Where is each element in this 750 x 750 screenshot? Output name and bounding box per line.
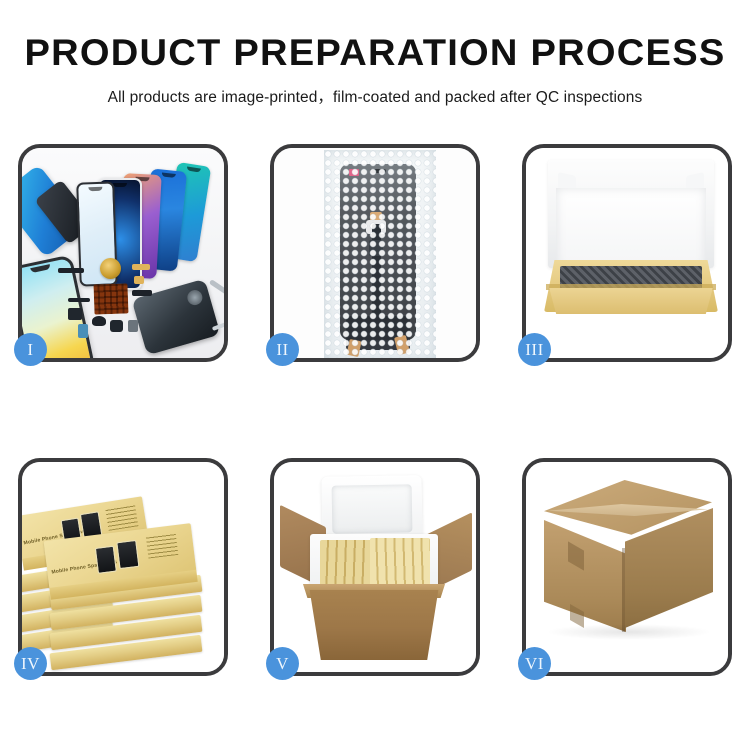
- flex-cable-part: [132, 264, 150, 270]
- process-step-6[interactable]: VI: [522, 458, 732, 676]
- small-component-part: [110, 320, 123, 332]
- step-1-image: [22, 148, 224, 358]
- flex-cable-part: [58, 268, 84, 273]
- step-badge-6: VI: [518, 647, 551, 680]
- foam-lid-open: [321, 475, 422, 543]
- foam-sheet: [556, 188, 706, 270]
- step-6-image: [526, 462, 728, 672]
- step-2-image: [274, 148, 476, 358]
- bubble-wrap-bag: [324, 150, 436, 358]
- step-5-image: [274, 462, 476, 672]
- process-step-grid: I: [18, 144, 732, 676]
- step-badge-3: III: [518, 333, 551, 366]
- small-component-part: [128, 320, 138, 332]
- process-step-5[interactable]: V: [270, 458, 480, 676]
- small-component-part: [92, 316, 106, 326]
- small-component-part: [78, 324, 88, 338]
- process-step-1[interactable]: I: [18, 144, 228, 362]
- flex-cable-part: [68, 308, 82, 320]
- yellow-boxes-row: [370, 538, 430, 588]
- flex-cable-part: [134, 276, 144, 284]
- box-print-screen: [95, 546, 117, 574]
- page-subtitle: All products are image-printed，film-coat…: [0, 85, 750, 107]
- step-badge-5: V: [266, 647, 299, 680]
- page-title: PRODUCT PREPARATION PROCESS: [0, 34, 750, 71]
- step-badge-4: IV: [14, 647, 47, 680]
- box-print-screen: [116, 540, 139, 569]
- box-stack: Mobile Phone Spare Parts Mobile Phone Sp…: [22, 476, 224, 666]
- product-preparation-page: PRODUCT PREPARATION PROCESS All products…: [0, 0, 750, 750]
- carton-front-face: [304, 590, 444, 660]
- page-header: PRODUCT PREPARATION PROCESS All products…: [0, 0, 750, 107]
- step-3-image: [526, 148, 728, 358]
- step-badge-2: II: [266, 333, 299, 366]
- yellow-box-front: [544, 288, 718, 314]
- process-step-4[interactable]: Mobile Phone Spare Parts Mobile Phone Sp…: [18, 458, 228, 676]
- box-print-textblock: [105, 504, 138, 530]
- flex-cable-part: [68, 298, 90, 302]
- step-4-image: Mobile Phone Spare Parts Mobile Phone Sp…: [22, 462, 224, 672]
- carton-shadow: [546, 624, 712, 640]
- bubble-texture: [324, 150, 436, 358]
- process-step-3[interactable]: III: [522, 144, 732, 362]
- step-badge-1: I: [14, 333, 47, 366]
- screw-tray-part: [93, 283, 128, 314]
- box-print-textblock: [146, 533, 178, 558]
- flex-cable-part: [132, 290, 152, 296]
- process-step-2[interactable]: II: [270, 144, 480, 362]
- carton-corner-seam: [622, 548, 625, 632]
- copper-coil-part: [100, 258, 121, 279]
